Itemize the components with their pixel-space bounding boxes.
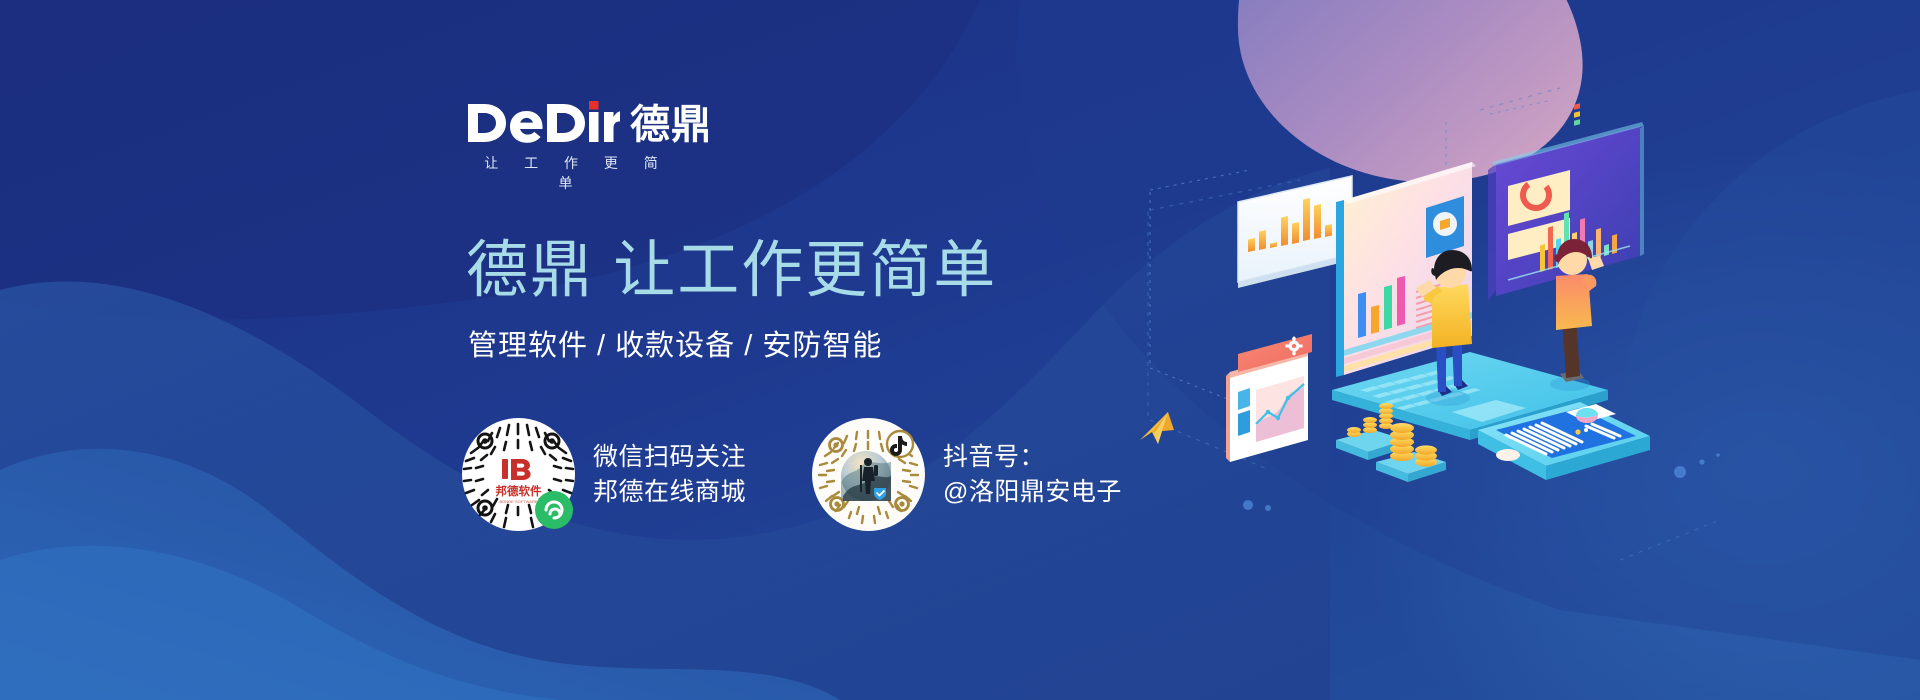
hero-subhead: 管理软件 / 收款设备 / 安防智能: [468, 326, 882, 366]
paper-plane-icon: [1138, 408, 1186, 448]
wechat-miniprogram-qr-icon[interactable]: 邦德软件 BONDE·SOFTWARE: [462, 418, 575, 531]
logo-tagline: 让 工 作 更 简 单: [468, 153, 674, 193]
svg-text:BONDE·SOFTWARE: BONDE·SOFTWARE: [499, 499, 537, 504]
svg-text:邦德软件: 邦德软件: [496, 484, 542, 498]
qr-item-douyin[interactable]: 抖音号： @洛阳鼎安电子: [812, 418, 1122, 531]
logo-row: 德鼎: [468, 98, 712, 144]
bar-chart-card: [1238, 176, 1352, 288]
qr-wechat-line2: 邦德在线商城: [593, 475, 746, 510]
hero-headline: 德鼎 让工作更简单: [466, 234, 997, 308]
brand-logo[interactable]: 德鼎 让 工 作 更 简 单: [468, 98, 712, 193]
qr-douyin-line1: 抖音号：: [943, 440, 1122, 475]
qr-douyin-line2: @洛阳鼎安电子: [943, 475, 1122, 510]
qr-item-wechat[interactable]: 邦德软件 BONDE·SOFTWARE 微信扫码关注 邦德在线商城: [462, 418, 746, 531]
qr-wechat-caption: 微信扫码关注 邦德在线商城: [593, 440, 746, 510]
person-orange-shirt: [1550, 239, 1604, 391]
qr-wechat-line1: 微信扫码关注: [593, 440, 746, 475]
qr-code-row: 邦德软件 BONDE·SOFTWARE 微信扫码关注 邦德在线商城: [462, 418, 1122, 531]
qr-douyin-caption: 抖音号： @洛阳鼎安电子: [943, 440, 1122, 510]
banner-stage: 德鼎 让 工 作 更 简 单 德鼎 让工作更简单 管理软件 / 收款设备 / 安…: [0, 0, 1920, 700]
logo-wordmark-deding: [468, 98, 620, 144]
logo-chinese-text: 德鼎: [630, 105, 712, 145]
isometric-business-analytics-illustration: [1240, 140, 1660, 470]
douyin-qr-icon[interactable]: [812, 418, 925, 531]
